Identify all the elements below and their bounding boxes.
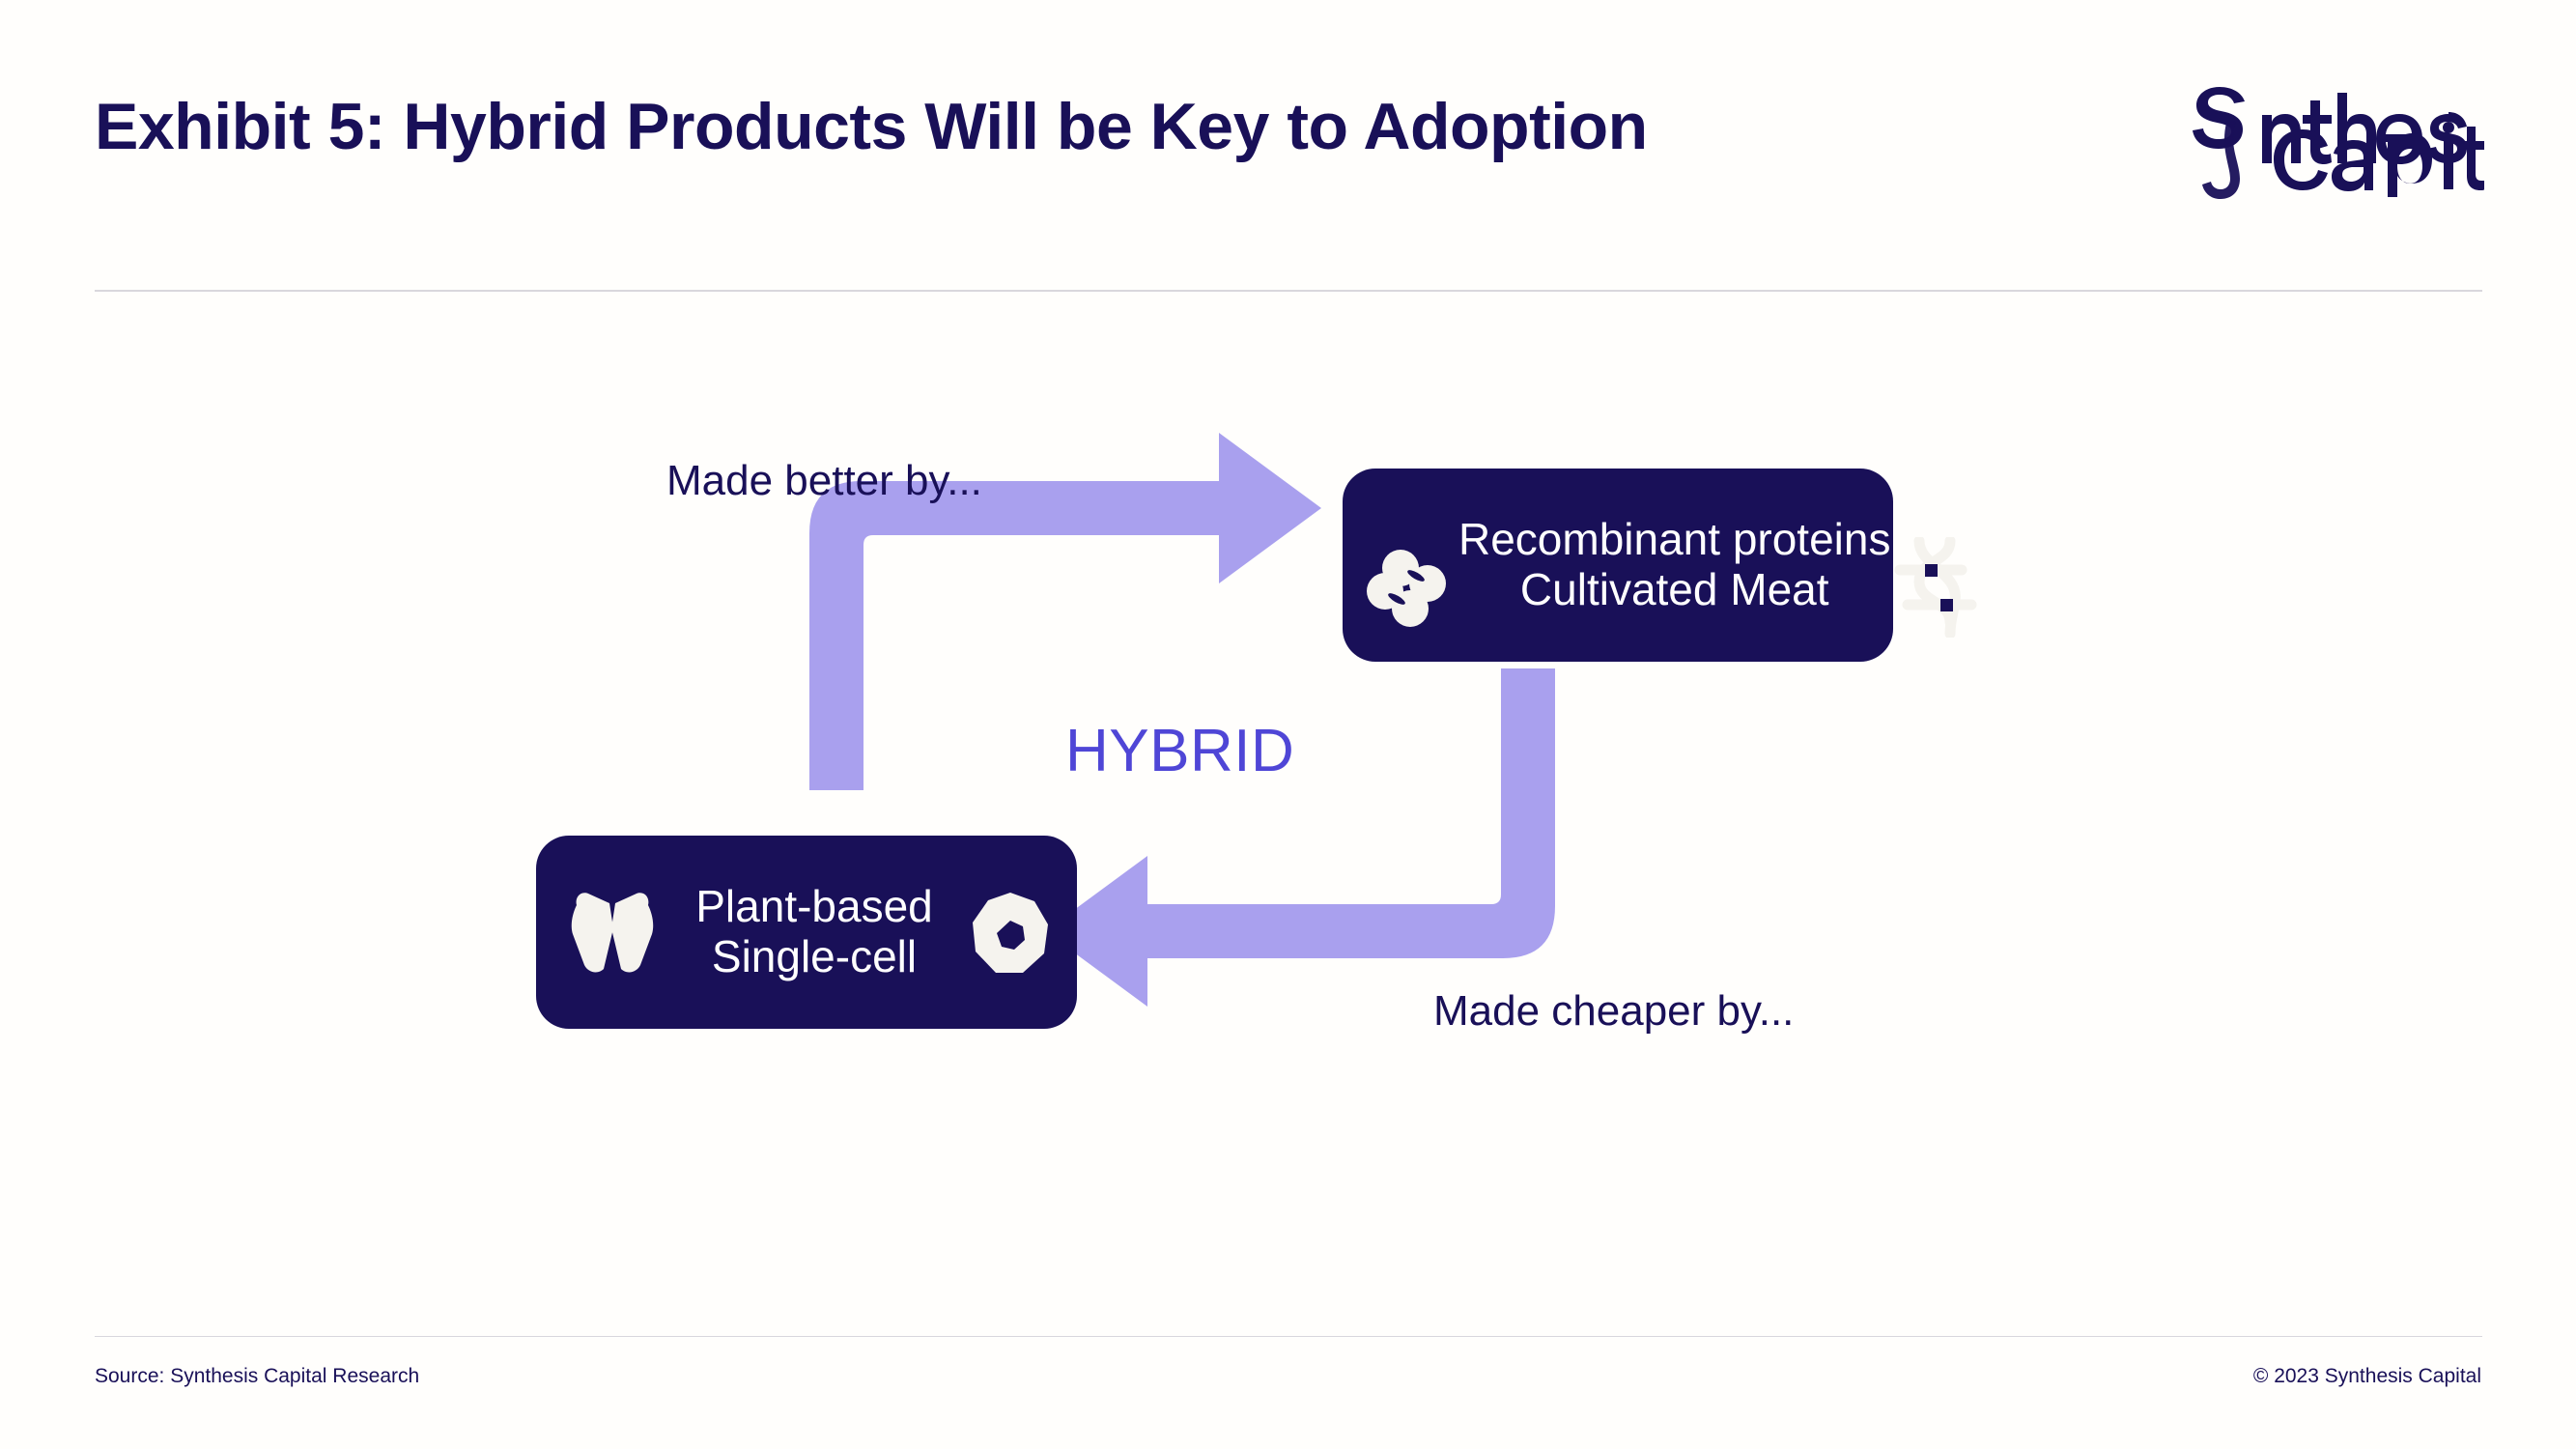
node-top-line1: Recombinant proteins: [1458, 515, 1890, 565]
plant-leaf-icon: [565, 886, 660, 982]
node-plant-singlecell[interactable]: Plant-based Single-cell: [536, 836, 1077, 1029]
dna-helix-icon: [1890, 537, 1979, 638]
node-bottom-labels: Plant-based Single-cell: [660, 882, 969, 981]
label-made-better-by: Made better by...: [666, 457, 982, 505]
footer-source: Source: Synthesis Capital Research: [95, 1365, 419, 1388]
node-bottom-line1: Plant-based: [660, 882, 969, 932]
single-cell-icon: [969, 890, 1052, 979]
node-top-line2: Cultivated Meat: [1458, 565, 1890, 615]
flow-arrows-layer: [0, 319, 2576, 1285]
synthesis-capital-logo: [2185, 79, 2484, 200]
label-made-cheaper-by: Made cheaper by...: [1433, 987, 1794, 1036]
hybrid-flow-diagram: Recombinant proteins Cultivated Meat: [0, 319, 2576, 1285]
footer-divider: [95, 1336, 2482, 1337]
hybrid-center-label: HYBRID: [1065, 717, 1294, 785]
header-divider: [95, 290, 2482, 292]
node-bottom-line2: Single-cell: [660, 932, 969, 982]
page-title: Exhibit 5: Hybrid Products Will be Key t…: [95, 89, 1648, 164]
node-top-labels: Recombinant proteins Cultivated Meat: [1458, 515, 1890, 614]
cell-cluster-icon: [1366, 549, 1458, 632]
node-recombinant-cultivated[interactable]: Recombinant proteins Cultivated Meat: [1343, 469, 1893, 662]
footer-copyright: © 2023 Synthesis Capital: [2253, 1365, 2481, 1388]
